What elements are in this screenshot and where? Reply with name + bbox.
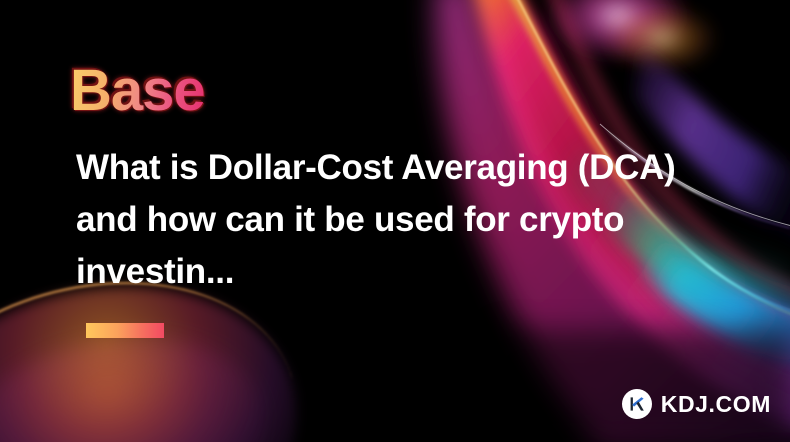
accent-bar (86, 323, 164, 338)
site-logo-text: KDJ.COM (661, 393, 771, 416)
social-share-card: Base What is Dollar-Cost Averaging (DCA)… (0, 0, 790, 442)
page-title: What is Dollar-Cost Averaging (DCA) and … (76, 142, 726, 298)
kdj-k-logo-icon (622, 389, 652, 419)
brand-title: Base (70, 62, 205, 120)
card-content: Base What is Dollar-Cost Averaging (DCA)… (0, 0, 790, 442)
site-logo[interactable]: KDJ.COM (622, 389, 771, 419)
